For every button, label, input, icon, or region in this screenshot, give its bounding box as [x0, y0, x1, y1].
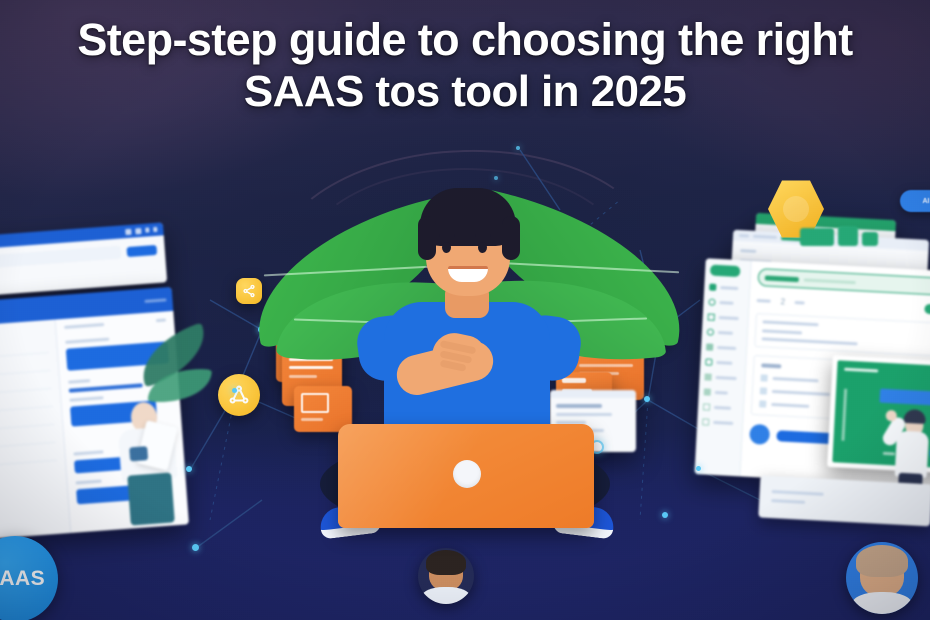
hair-side-right	[502, 216, 520, 260]
orange-laptop	[338, 424, 594, 528]
smiling-mouth	[448, 266, 488, 282]
eye-left	[442, 242, 451, 253]
headline-line-2: SAAS tos tool in 2025	[18, 66, 912, 118]
banner-stage: 2	[0, 0, 930, 620]
eyebrow-right	[475, 234, 491, 237]
headline-block: Step-step guide to choosing the right SA…	[0, 14, 930, 118]
eyebrow-left	[439, 234, 455, 237]
hair-side-left	[418, 216, 436, 260]
eye-right	[478, 242, 487, 253]
laptop-logo-icon	[453, 460, 481, 488]
hero-character-illustration	[292, 176, 642, 576]
headline-line-1: Step-step guide to choosing the right	[18, 14, 912, 66]
